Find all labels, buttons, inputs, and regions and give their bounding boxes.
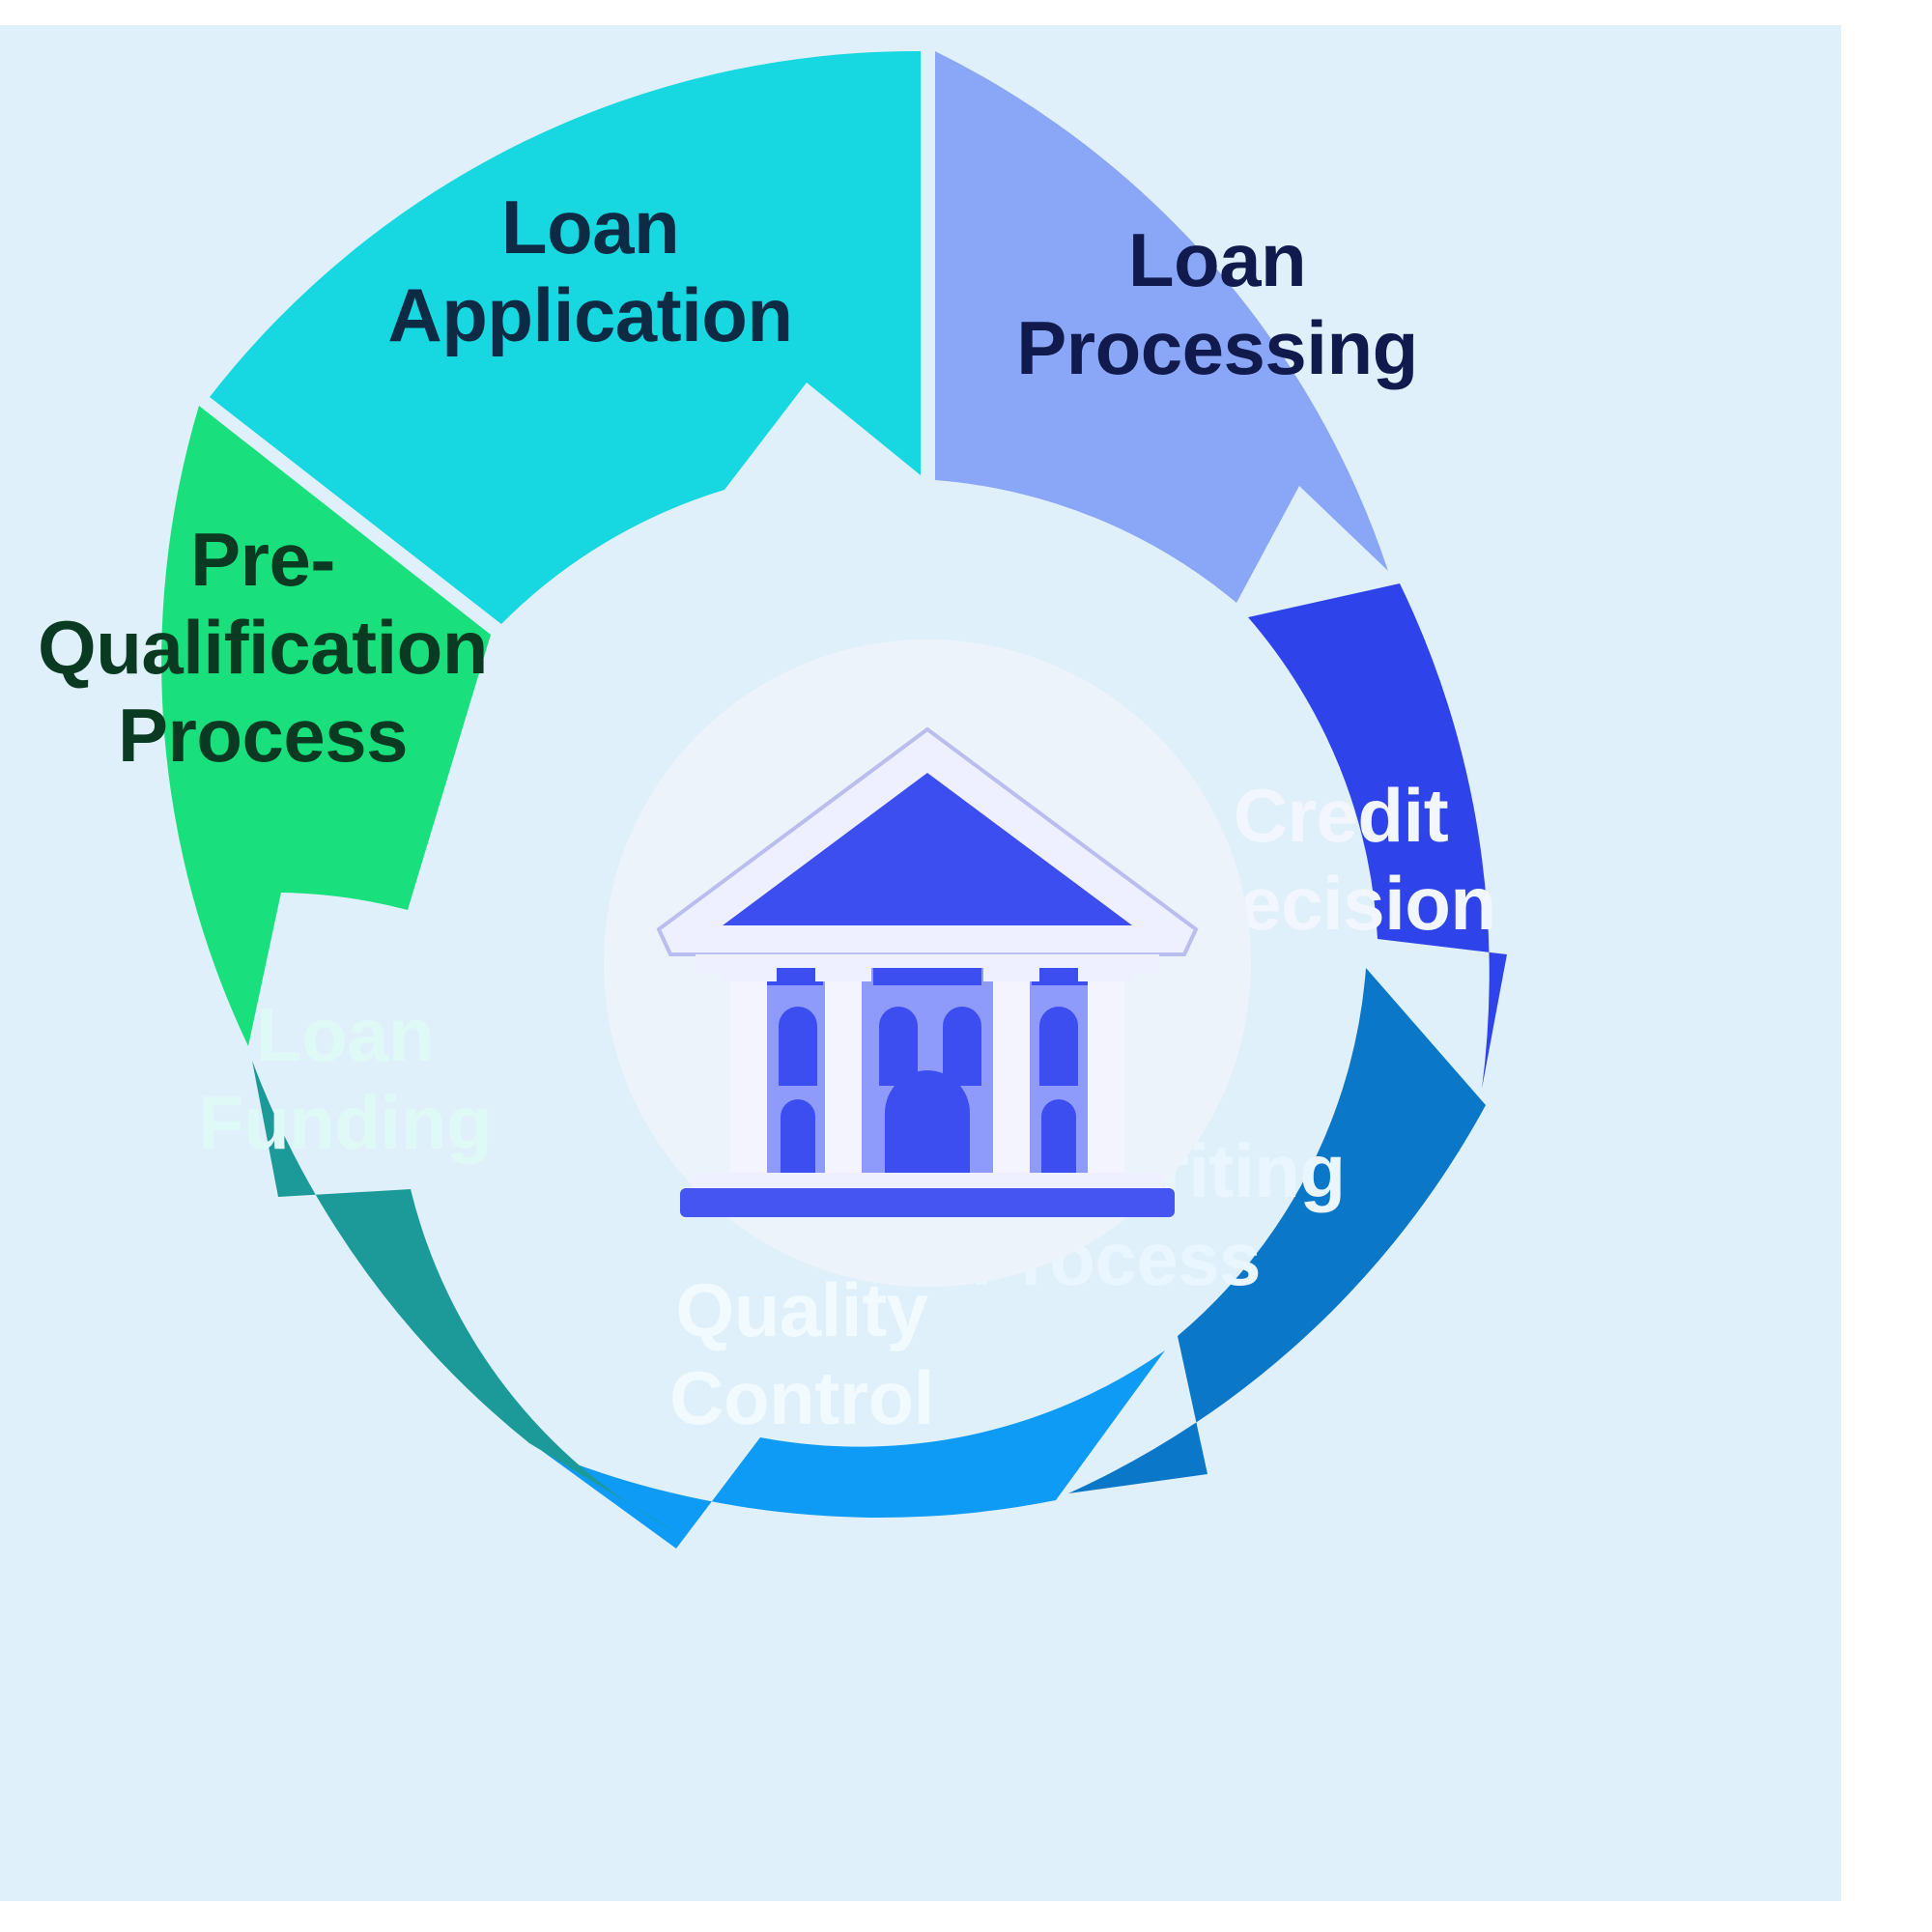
bank-building-icon [638, 676, 1217, 1256]
segment-loan-funding[interactable]: Loan Funding [198, 992, 674, 1531]
segment-pre-qualification-process-label-line1: Pre- [190, 517, 335, 602]
segment-loan-processing-label-line1: Loan [1128, 217, 1306, 302]
segment-loan-processing-label-line2: Processing [1016, 305, 1418, 390]
bank-base-step-bottom [680, 1188, 1175, 1217]
segment-credit-decision-label-line1: Credit [1234, 773, 1449, 858]
segment-loan-application-label-line2: Application [387, 272, 792, 357]
segment-pre-qualification-process-label-line3: Process [118, 693, 408, 778]
segment-loan-processing[interactable]: Loan Processing [935, 51, 1418, 603]
bank-capital-bay-mid [873, 968, 981, 985]
bank-door [885, 1070, 970, 1173]
segment-pre-qualification-process-label-line2: Qualification [38, 605, 488, 690]
segment-loan-funding-label-line1: Loan [256, 992, 434, 1077]
screenshot-canvas: Loan Application Loan Processing Credit … [0, 0, 1932, 1932]
segment-loan-application-label-line1: Loan [501, 185, 679, 270]
segment-quality-control[interactable]: Quality Control [542, 1267, 1165, 1548]
segment-loan-funding-label-line2: Funding [198, 1080, 492, 1165]
segment-quality-control-label-line2: Control [669, 1355, 934, 1440]
bank-icon-container [638, 676, 1217, 1256]
